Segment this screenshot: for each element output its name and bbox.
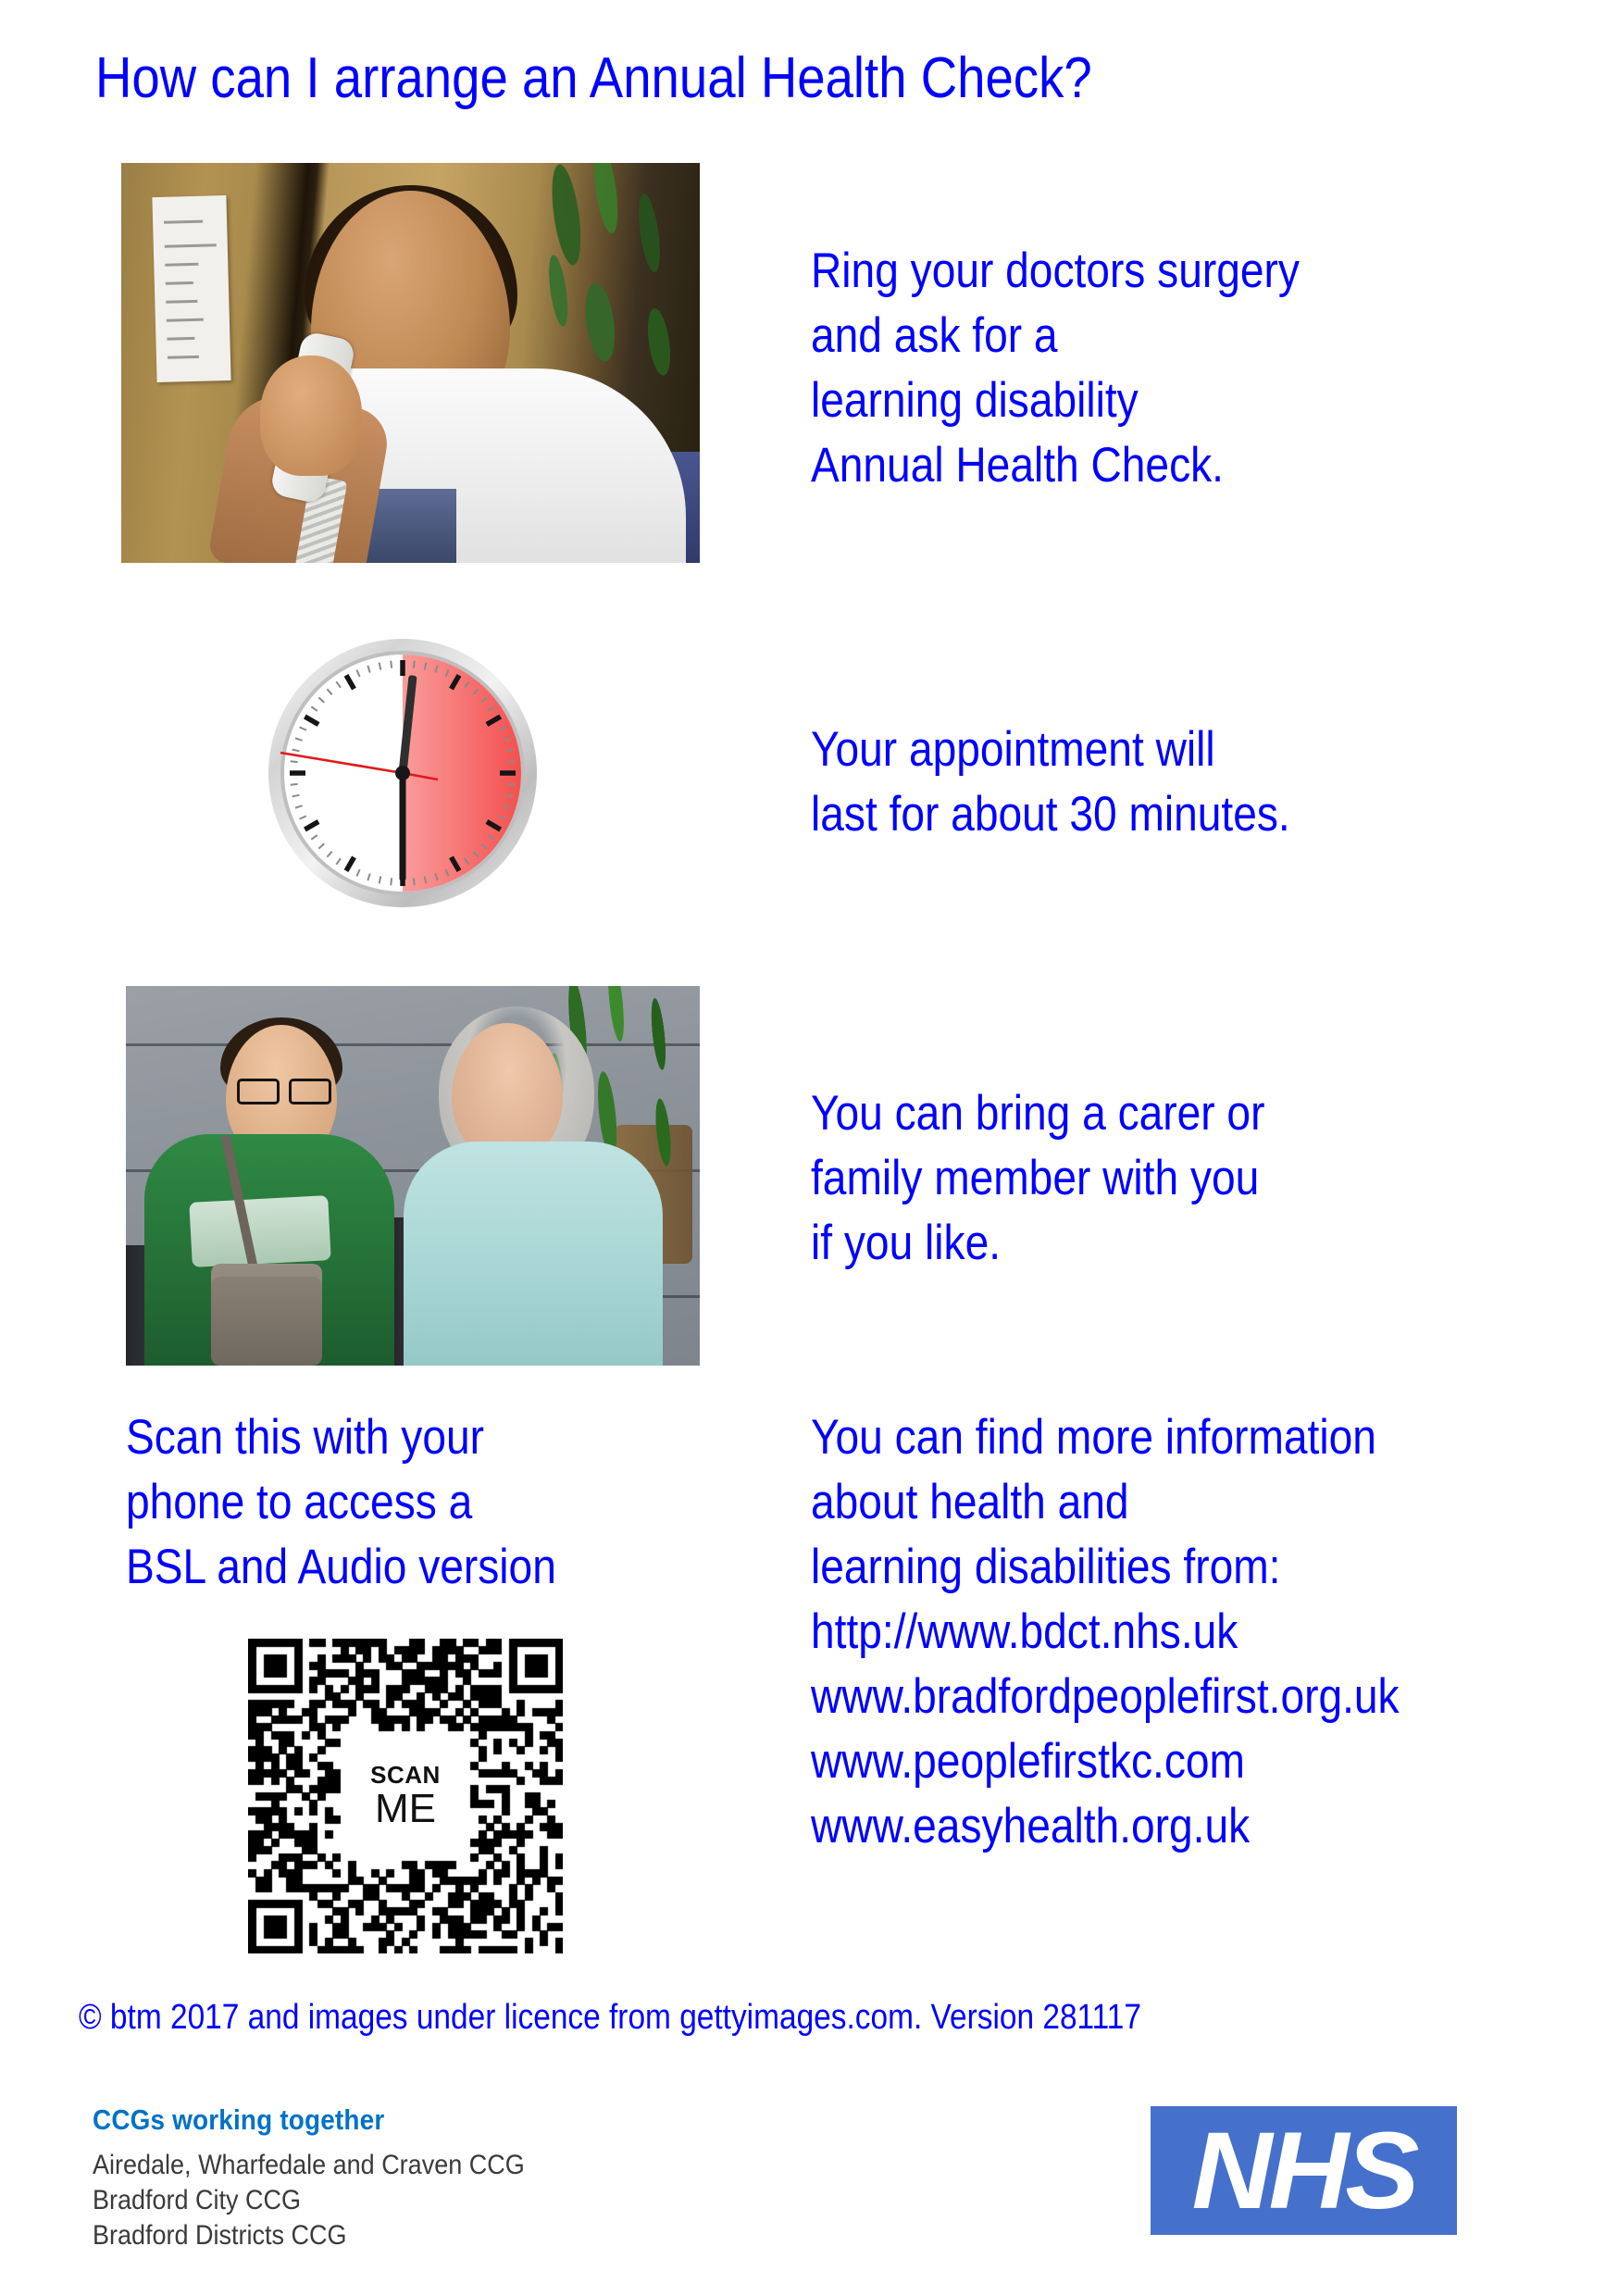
ccg-footer: CCGs working together Airedale, Wharfeda… [93,2103,573,2253]
text-line: about health and [811,1470,1400,1535]
photo-man-on-telephone [121,163,700,563]
text-line: Your appointment will [811,717,1290,782]
page-title: How can I arrange an Annual Health Check… [95,48,1092,108]
text-line: Annual Health Check. [811,433,1300,498]
text-line: family member with you [811,1146,1264,1211]
text-line: last for about 30 minutes. [811,782,1290,847]
text-line: learning disability [811,368,1300,433]
text-line: if you like. [811,1211,1264,1276]
ccg-heading: CCGs working together [93,2103,525,2137]
section-text-carer: You can bring a carer or family member w… [811,1081,1264,1276]
ccg-name: Bradford Districts CCG [93,2218,525,2253]
qr-me-text: ME [375,1789,436,1829]
copyright-notice: © btm 2017 and images under licence from… [79,1998,1141,2038]
text-line: phone to access a [126,1470,556,1535]
photo-person-hand [260,356,362,476]
text-line: BSL and Audio version [126,1535,556,1600]
more-information-links: You can find more information about heal… [811,1405,1400,1859]
photo-wall-note [152,195,230,382]
link-bdct[interactable]: http://www.bdct.nhs.uk [811,1600,1400,1665]
photo-woman-top [404,1142,663,1366]
clock-image [264,634,541,912]
ccg-name-list: Airedale, Wharfedale and Craven CCG Brad… [93,2148,525,2253]
text-line: and ask for a [811,304,1300,368]
text-line: learning disabilities from: [811,1535,1400,1600]
photo-man-and-woman-talking [126,986,700,1366]
section-text-duration: Your appointment will last for about 30 … [811,717,1290,847]
scan-instruction-text: Scan this with your phone to access a BS… [126,1405,556,1600]
ccg-name: Bradford City CCG [93,2183,525,2218]
poster-page: How can I arrange an Annual Health Check… [0,0,1618,2296]
section-text-ring: Ring your doctors surgery and ask for a … [811,239,1300,498]
text-line: Ring your doctors surgery [811,239,1300,304]
qr-scan-text: SCAN [370,1763,441,1787]
qr-code-center-label: SCAN ME [351,1752,460,1841]
photo-shoulder-bag [211,1264,322,1366]
link-easyhealth[interactable]: www.easyhealth.org.uk [811,1794,1400,1859]
text-line: You can bring a carer or [811,1081,1264,1146]
text-line: Scan this with your [126,1405,556,1470]
link-bradfordpeoplefirst[interactable]: www.bradfordpeoplefirst.org.uk [811,1665,1400,1729]
qr-code[interactable]: SCAN ME [248,1639,563,1953]
ccg-name: Airedale, Wharfedale and Craven CCG [93,2148,525,2183]
photo-hoodie-print [189,1195,330,1267]
nhs-logo: NHS [1151,2106,1457,2235]
link-peoplefirstkc[interactable]: www.peoplefirstkc.com [811,1729,1400,1794]
nhs-logo-text: NHS [1192,2116,1416,2226]
text-line: You can find more information [811,1405,1400,1470]
photo-man-glasses [237,1079,330,1099]
